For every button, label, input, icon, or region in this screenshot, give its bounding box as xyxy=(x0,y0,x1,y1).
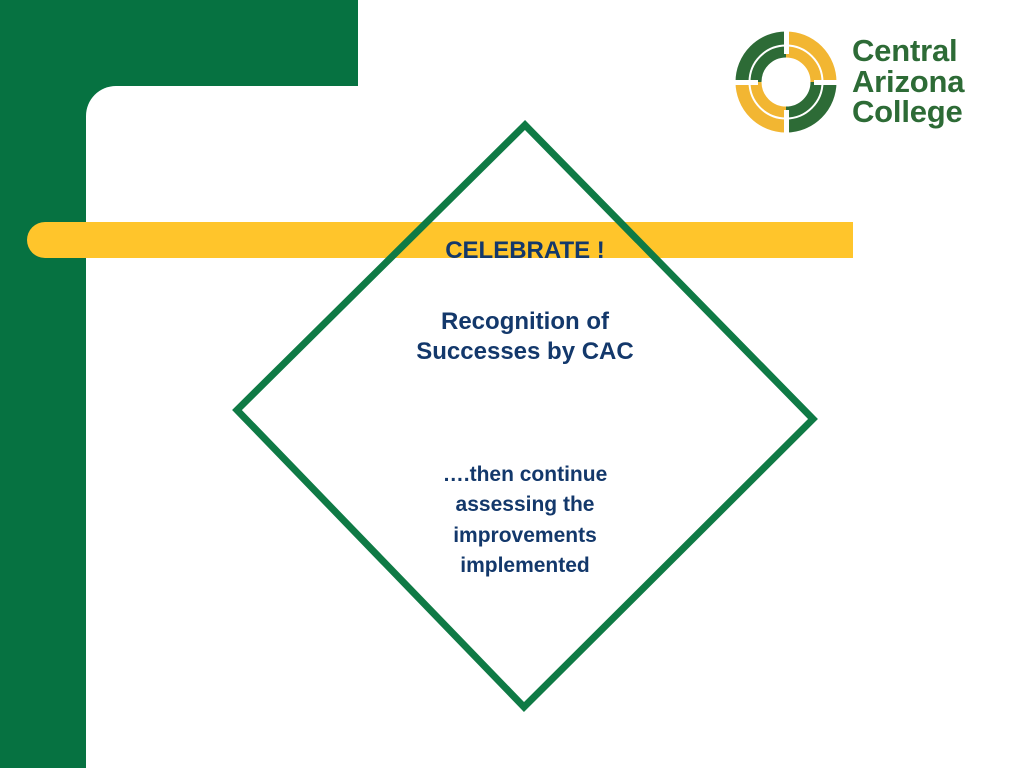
central-arizona-college-logo: Central Arizona College xyxy=(734,26,996,138)
cac-pinwheel-icon xyxy=(734,30,838,134)
green-left-bar xyxy=(0,0,86,768)
slide-canvas: CELEBRATE ! Recognition of Successes by … xyxy=(0,0,1024,768)
green-top-block xyxy=(0,0,358,86)
logo-text-line-3: College xyxy=(852,97,964,128)
diamond-outline xyxy=(230,118,820,714)
green-rounded-inner-corner xyxy=(86,86,116,116)
logo-text-line-2: Arizona xyxy=(852,67,964,98)
logo-text-line-1: Central xyxy=(852,36,964,67)
cac-logo-wordmark: Central Arizona College xyxy=(852,36,964,128)
